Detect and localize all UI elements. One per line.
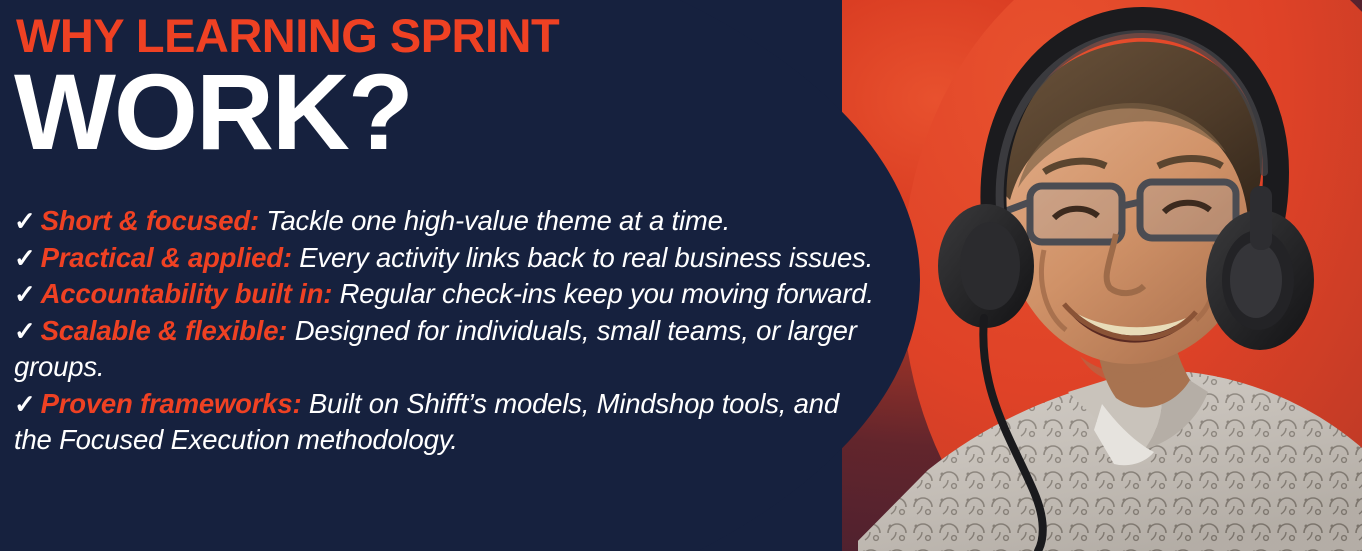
list-item-lead: Scalable & flexible: bbox=[41, 315, 288, 346]
list-item-text: Regular check-ins keep you moving forwar… bbox=[332, 278, 874, 309]
check-icon: ✓ bbox=[14, 243, 41, 273]
person-photo bbox=[858, 0, 1362, 551]
list-item-text: Tackle one high-value theme at a time. bbox=[259, 205, 730, 236]
benefits-list: ✓Short & focused: Tackle one high-value … bbox=[14, 203, 882, 459]
list-item-lead: Proven frameworks: bbox=[41, 388, 302, 419]
list-item-lead: Practical & applied: bbox=[41, 242, 292, 273]
list-item: ✓Scalable & flexible: Designed for indiv… bbox=[14, 313, 882, 386]
check-icon: ✓ bbox=[14, 316, 41, 346]
check-icon: ✓ bbox=[14, 389, 41, 419]
list-item: ✓Practical & applied: Every activity lin… bbox=[14, 240, 882, 277]
check-icon: ✓ bbox=[14, 279, 41, 309]
check-icon: ✓ bbox=[14, 206, 41, 236]
eyeglasses bbox=[998, 182, 1236, 242]
page-title: WORK? bbox=[14, 56, 412, 168]
list-item-text: Every activity links back to real busine… bbox=[292, 242, 873, 273]
list-item-lead: Accountability built in: bbox=[41, 278, 333, 309]
list-item-lead: Short & focused: bbox=[41, 205, 259, 236]
text-content: WHY LEARNING SPRINT WORK? ✓Short & focus… bbox=[0, 0, 900, 551]
list-item: ✓Proven frameworks: Built on Shifft’s mo… bbox=[14, 386, 882, 459]
list-item: ✓Accountability built in: Regular check-… bbox=[14, 276, 882, 313]
why-learning-sprints-banner: WHY LEARNING SPRINT WORK? ✓Short & focus… bbox=[0, 0, 1362, 551]
list-item: ✓Short & focused: Tackle one high-value … bbox=[14, 203, 882, 240]
